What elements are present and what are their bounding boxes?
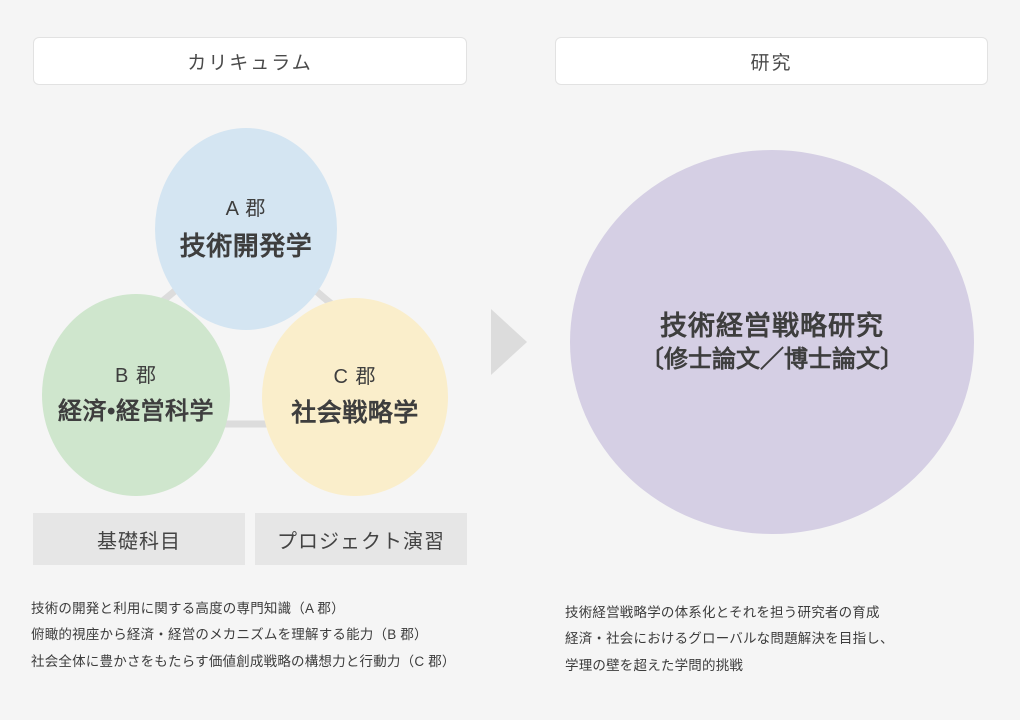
research-note-line: 経済・社会におけるグローバルな問題解決を目指し、 xyxy=(565,626,894,652)
research-sub-label: 〔修士論文／博士論文〕 xyxy=(640,344,904,376)
circle-b-sub-label: B 郡 xyxy=(115,365,157,387)
subject-box-project-label: プロジェクト演習 xyxy=(277,525,445,554)
circle-a-main-label: 技術開発学 xyxy=(180,232,313,261)
circle-c-main-label: 社会戦略学 xyxy=(291,400,419,428)
diagram-canvas: カリキュラム 研究 A 郡 技術開発学 B 郡 経済•経営科学 C 郡 社会戦略… xyxy=(0,0,1020,720)
header-curriculum-label: カリキュラム xyxy=(187,48,312,75)
research-note-line: 学理の壁を超えた学問的挑戦 xyxy=(565,653,894,679)
circle-a-sub-label: A 郡 xyxy=(226,198,267,220)
curriculum-note-line: 技術の開発と利用に関する高度の専門知識（A 郡） xyxy=(31,596,456,622)
subject-box-project: プロジェクト演習 xyxy=(255,513,467,565)
triangle-right-icon xyxy=(489,307,529,377)
research-notes: 技術経営戦略学の体系化とそれを担う研究者の育成 経済・社会におけるグローバルな問… xyxy=(565,600,894,679)
header-curriculum: カリキュラム xyxy=(33,37,467,85)
header-research: 研究 xyxy=(555,37,988,85)
circle-group-research: 技術経営戦略研究 〔修士論文／博士論文〕 xyxy=(570,150,974,534)
curriculum-notes: 技術の開発と利用に関する高度の専門知識（A 郡） 俯瞰的視座から経済・経営のメカ… xyxy=(31,596,456,675)
curriculum-note-line: 社会全体に豊かさをもたらす価値創成戦略の構想力と行動力（C 郡） xyxy=(31,649,456,675)
circle-group-a: A 郡 技術開発学 xyxy=(155,128,337,330)
header-research-label: 研究 xyxy=(750,48,792,75)
circle-c-sub-label: C 郡 xyxy=(334,366,377,388)
circle-group-c: C 郡 社会戦略学 xyxy=(262,298,448,496)
circle-group-b: B 郡 経済•経営科学 xyxy=(42,294,230,496)
subject-box-basic-label: 基礎科目 xyxy=(97,525,181,554)
research-note-line: 技術経営戦略学の体系化とそれを担う研究者の育成 xyxy=(565,600,894,626)
circle-b-main-label: 経済•経営科学 xyxy=(58,399,214,425)
subject-box-basic: 基礎科目 xyxy=(33,513,245,565)
research-main-label: 技術経営戦略研究 xyxy=(660,308,884,344)
curriculum-note-line: 俯瞰的視座から経済・経営のメカニズムを理解する能力（B 郡） xyxy=(31,622,456,648)
